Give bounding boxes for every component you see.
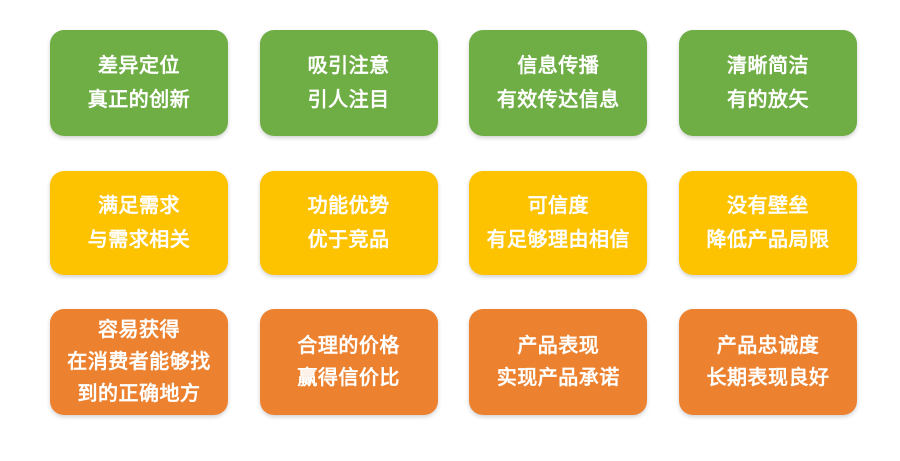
card-differentiation[interactable]: 差异定位 真正的创新 (50, 30, 228, 136)
card-line: 差异定位 (98, 49, 180, 83)
card-line: 引人注目 (308, 83, 390, 117)
card-performance[interactable]: 产品表现 实现产品承诺 (469, 309, 647, 415)
row-orange: 容易获得 在消费者能够找 到的正确地方 合理的价格 赢得信价比 产品表现 实现产… (50, 309, 857, 415)
card-attention[interactable]: 吸引注意 引人注目 (260, 30, 438, 136)
card-line: 信息传播 (517, 49, 599, 83)
card-line: 与需求相关 (88, 223, 191, 257)
row-green: 差异定位 真正的创新 吸引注意 引人注目 信息传播 有效传达信息 清晰简洁 有的… (50, 30, 857, 136)
card-loyalty[interactable]: 产品忠诚度 长期表现良好 (679, 309, 857, 415)
card-line: 产品表现 (517, 330, 599, 362)
card-line: 有效传达信息 (497, 83, 620, 117)
card-line: 实现产品承诺 (497, 362, 620, 394)
card-line: 产品忠诚度 (717, 330, 820, 362)
card-communication[interactable]: 信息传播 有效传达信息 (469, 30, 647, 136)
card-availability[interactable]: 容易获得 在消费者能够找 到的正确地方 (50, 309, 228, 415)
card-line: 满足需求 (98, 189, 180, 223)
card-line: 降低产品局限 (706, 223, 829, 257)
card-line: 有足够理由相信 (487, 223, 631, 257)
card-line: 没有壁垒 (727, 189, 809, 223)
card-line: 功能优势 (308, 189, 390, 223)
card-line: 可信度 (528, 189, 590, 223)
card-line: 有的放矢 (727, 83, 809, 117)
card-grid: 差异定位 真正的创新 吸引注意 引人注目 信息传播 有效传达信息 清晰简洁 有的… (0, 0, 900, 461)
card-line: 长期表现良好 (706, 362, 829, 394)
card-line: 容易获得 (98, 314, 180, 346)
card-line: 合理的价格 (297, 330, 400, 362)
card-line: 真正的创新 (88, 83, 191, 117)
card-line: 清晰简洁 (727, 49, 809, 83)
card-clarity[interactable]: 清晰简洁 有的放矢 (679, 30, 857, 136)
card-line: 吸引注意 (308, 49, 390, 83)
row-yellow: 满足需求 与需求相关 功能优势 优于竞品 可信度 有足够理由相信 没有壁垒 降低… (50, 171, 857, 275)
card-credibility[interactable]: 可信度 有足够理由相信 (469, 171, 647, 275)
card-line: 到的正确地方 (78, 378, 201, 410)
card-price[interactable]: 合理的价格 赢得信价比 (260, 309, 438, 415)
card-no-barrier[interactable]: 没有壁垒 降低产品局限 (679, 171, 857, 275)
card-line: 优于竞品 (308, 223, 390, 257)
card-function[interactable]: 功能优势 优于竞品 (260, 171, 438, 275)
card-line: 在消费者能够找 (67, 346, 211, 378)
card-line: 赢得信价比 (297, 362, 400, 394)
card-demand[interactable]: 满足需求 与需求相关 (50, 171, 228, 275)
